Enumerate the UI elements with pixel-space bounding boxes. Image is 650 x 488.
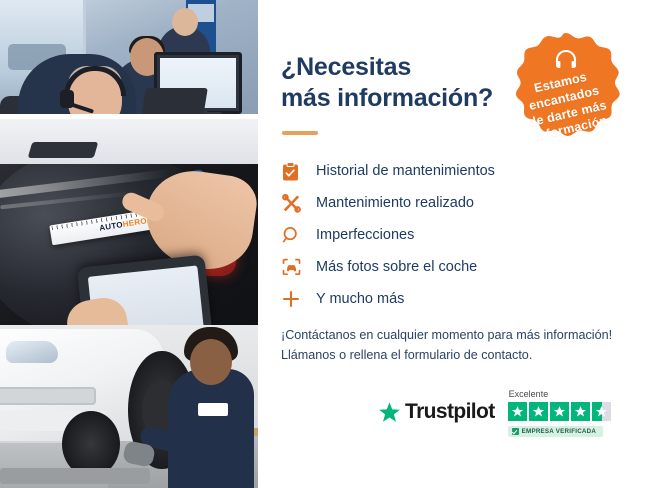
call-center-agents-photo	[0, 0, 258, 164]
trustpilot-logo[interactable]: Trustpilot	[378, 400, 495, 424]
contact-paragraph-line-2: Llámanos o rellena el formulario de cont…	[281, 348, 532, 362]
desk-tablet	[28, 142, 99, 158]
title-divider	[282, 131, 318, 135]
grille	[0, 387, 96, 405]
feature-list: Historial de mantenimientos Mantenimient…	[282, 155, 612, 315]
car-inspection-ruler-photo: AUTOHERO	[0, 164, 258, 325]
headset-icon	[554, 49, 578, 71]
uniform-logo	[198, 403, 228, 416]
trustpilot-star-icon	[378, 401, 401, 424]
verified-company-label: EMPRESA VERIFICADA	[522, 428, 596, 435]
magnifier-icon	[282, 226, 316, 244]
star-filled	[571, 402, 590, 421]
page-title: ¿Necesitas más información?	[281, 52, 521, 113]
feature-label: Y mucho más	[316, 292, 404, 307]
feature-item-maintenance-done: Mantenimiento realizado	[282, 187, 612, 219]
star-filled	[550, 402, 569, 421]
headlight	[6, 341, 58, 363]
star-half	[592, 402, 611, 421]
tools-cross-icon	[282, 194, 316, 213]
contact-paragraph: ¡Contáctanos en cualquier momento para m…	[281, 325, 641, 366]
head	[190, 339, 232, 385]
verified-company-badge: EMPRESA VERIFICADA	[508, 426, 603, 437]
car-scan-icon	[282, 258, 316, 276]
page-title-line-1: ¿Necesitas	[281, 53, 411, 81]
feature-item-more-photos: Más fotos sobre el coche	[282, 251, 612, 283]
content-panel: ¿Necesitas más información? Estamos enca…	[258, 0, 650, 488]
verified-check-icon	[512, 428, 519, 435]
plus-icon	[282, 290, 316, 308]
info-card: AUTOHERO	[0, 0, 650, 488]
feature-item-imperfections: Imperfecciones	[282, 219, 612, 251]
feature-item-much-more: Y mucho más	[282, 283, 612, 315]
trustpilot-widget[interactable]: Trustpilot Excelente	[378, 389, 611, 437]
feature-item-maintenance-history: Historial de mantenimientos	[282, 155, 612, 187]
contact-paragraph-line-1: ¡Contáctanos en cualquier momento para m…	[281, 328, 612, 342]
mechanic	[168, 369, 254, 488]
clipboard-check-icon	[282, 162, 316, 181]
trustpilot-name: Trustpilot	[405, 400, 495, 424]
mechanic-wheel-photo	[0, 325, 258, 488]
page-title-line-2: más información?	[281, 84, 493, 112]
photo-column: AUTOHERO	[0, 0, 258, 488]
autohero-ruler-label: AUTOHERO	[99, 216, 148, 232]
star-filled	[529, 402, 548, 421]
feature-label: Historial de mantenimientos	[316, 164, 495, 179]
trustpilot-stars	[508, 402, 611, 421]
star-filled	[508, 402, 527, 421]
trustpilot-rating-label: Excelente	[509, 389, 549, 399]
feature-label: Mantenimiento realizado	[316, 196, 474, 211]
car-lift-arm	[0, 468, 150, 484]
head	[172, 8, 198, 36]
feature-label: Imperfecciones	[316, 228, 414, 243]
feature-label: Más fotos sobre el coche	[316, 260, 477, 275]
support-badge: Estamos encantados de darte más informac…	[503, 31, 629, 157]
trustpilot-rating: Excelente	[508, 389, 611, 437]
